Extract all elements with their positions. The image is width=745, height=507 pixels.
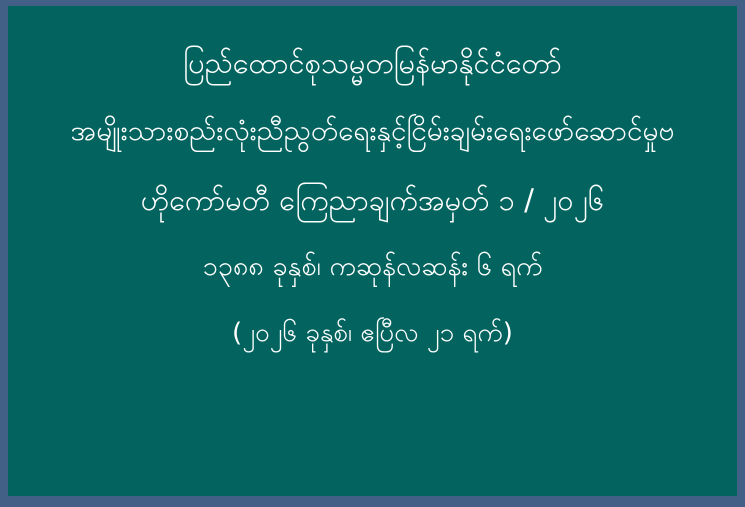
- announcement-panel: ပြည်ထောင်စုသမ္မတမြန်မာနိုင်ငံတော် အမျိုး…: [8, 6, 737, 496]
- announcement-number-line: ဟိုကော်မတီ ကြေညာချက်အမှတ် ၁ / ၂၀၂၆: [8, 185, 737, 215]
- committee-name-line: အမျိုးသားစည်းလုံးညီညွတ်ရေးနှင့်ငြိမ်းချမ…: [8, 116, 737, 145]
- gregorian-date-line: (၂၀၂၆ ခုနှစ်၊ ဧပြီလ ၂၁ ရက်): [8, 320, 737, 347]
- announcement-border-frame: ပြည်ထောင်စုသမ္မတမြန်မာနိုင်ငံတော် အမျိုး…: [0, 0, 745, 507]
- burmese-era-date-line: ၁၃၈၈ ခုနှစ်၊ ကဆုန်လဆန်း ၆ ရက်: [8, 253, 737, 281]
- state-name-line: ပြည်ထောင်စုသမ္မတမြန်မာနိုင်ငံတော်: [8, 48, 737, 78]
